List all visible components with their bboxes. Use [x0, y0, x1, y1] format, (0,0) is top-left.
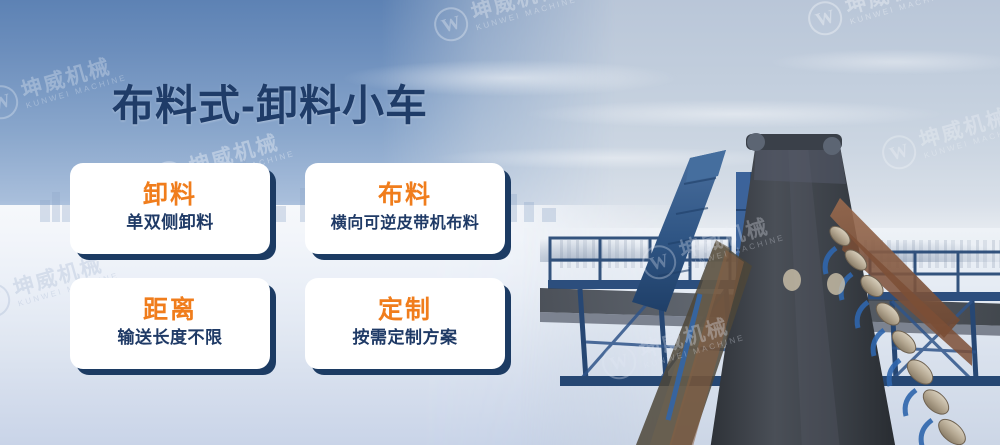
feature-card-title: 卸料: [143, 182, 197, 210]
feature-card-subtitle: 按需定制方案: [353, 328, 458, 348]
feature-card-title: 定制: [378, 297, 432, 325]
feature-card-subtitle: 横向可逆皮带机布料: [331, 214, 480, 233]
feature-card-distribution[interactable]: 布料 横向可逆皮带机布料: [305, 163, 505, 254]
feature-card-title: 距离: [143, 297, 197, 325]
feature-card-grid: 卸料 单双侧卸料 布料 横向可逆皮带机布料 距离 输送长度不限 定制 按需定制方…: [70, 163, 540, 369]
feature-card-unloading[interactable]: 卸料 单双侧卸料: [70, 163, 270, 254]
product-banner: W 坤威机械 KUNWEI MACHINE W 坤威机械 KUNWEI MACH…: [0, 0, 1000, 445]
feature-card-subtitle: 输送长度不限: [118, 328, 223, 348]
conveyor-tripper-machinery: [540, 80, 1000, 445]
feature-card-title: 布料: [378, 182, 432, 210]
feature-card-customization[interactable]: 定制 按需定制方案: [305, 278, 505, 369]
feature-card-subtitle: 单双侧卸料: [126, 213, 214, 233]
page-title: 布料式-卸料小车: [112, 72, 428, 133]
feature-card-distance[interactable]: 距离 输送长度不限: [70, 278, 270, 369]
